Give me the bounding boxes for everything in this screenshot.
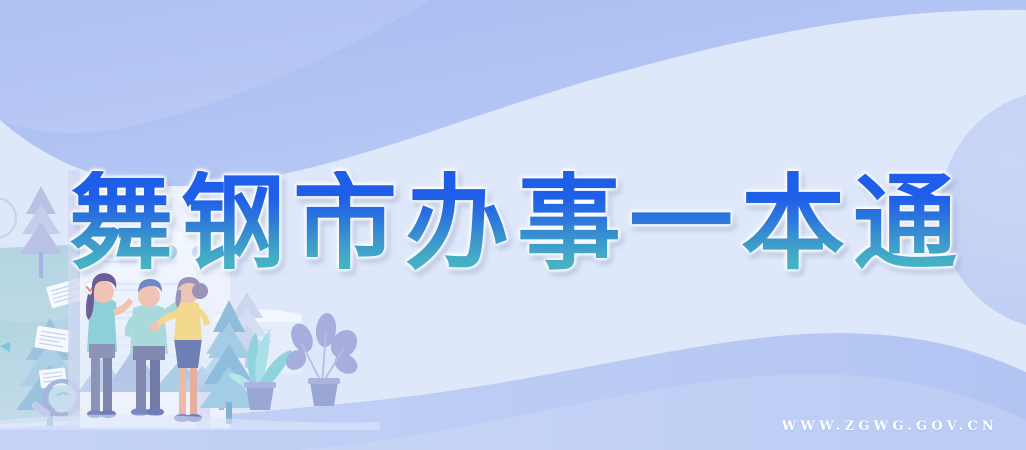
illustration-government-service: [0, 0, 1026, 450]
scene-group: [0, 170, 380, 436]
ground-line: [0, 414, 380, 436]
potted-plant-violet: [282, 312, 363, 406]
decorative-ring: [0, 198, 16, 238]
site-url-text: WWW.ZGWG.GOV.CN: [782, 419, 998, 434]
page-banner: 舞钢市办事一本通 WWW.ZGWG.GOV.CN: [0, 0, 1026, 450]
